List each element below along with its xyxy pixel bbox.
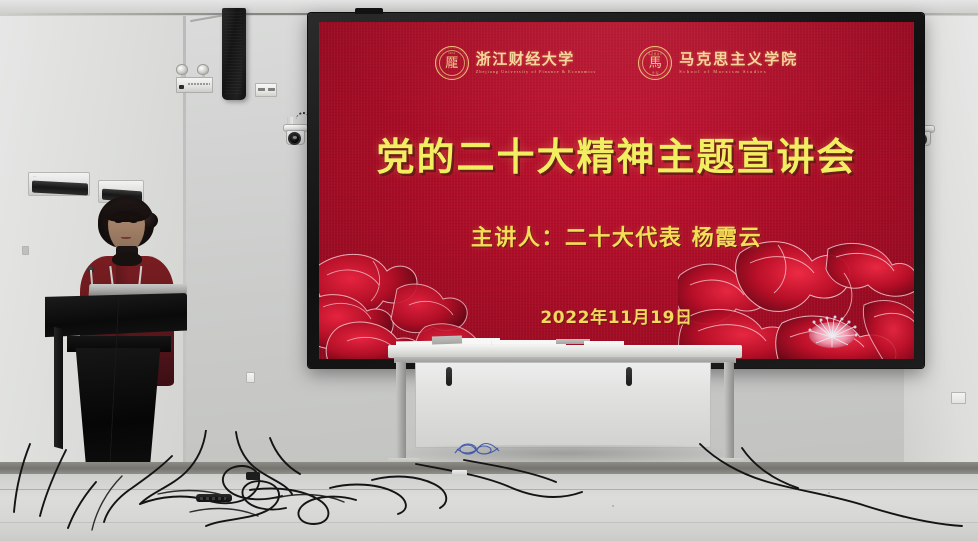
speaker-column xyxy=(222,8,246,100)
desk-latch-right[interactable] xyxy=(626,367,632,386)
logo-zufe-text: 浙江财经大学 Zhejiang University of Finance & … xyxy=(476,52,597,75)
emergency-test-button[interactable] xyxy=(179,85,184,89)
ptz-camera-left xyxy=(283,117,309,147)
logo-marxism: 马克思主义 馬 学 院 马克思主义学院 School of Marxism St… xyxy=(638,46,798,80)
wall-switch-left[interactable] xyxy=(22,246,29,255)
power-outlet-double[interactable] xyxy=(255,83,277,97)
led-display-screen: 1974 龎 浙江财经大学 Zhejiang University of Fin… xyxy=(308,13,924,368)
university-seal-icon: 1974 龎 xyxy=(435,46,469,80)
emergency-lamp-right xyxy=(197,64,209,75)
presenter-fringe xyxy=(103,202,150,222)
photo-scene: — xyxy=(0,0,978,541)
emergency-lamp-left xyxy=(176,64,188,75)
wall-plate-small[interactable] xyxy=(246,372,255,383)
presentation-date: 2022年11月19日 xyxy=(319,303,914,328)
seal-arc-bottom: 学 院 xyxy=(639,71,671,75)
logo-marxism-text: 马克思主义学院 School of Marxism Studies xyxy=(679,52,798,75)
gray-folder xyxy=(432,335,462,344)
presenter-brow-right xyxy=(129,216,137,218)
screen-top-bracket xyxy=(355,8,383,14)
presentation-title: 党的二十大精神主题宣讲会 xyxy=(319,126,914,181)
seal-glyph: 龎 xyxy=(436,47,468,79)
screen-logo-row: 1974 龎 浙江财经大学 Zhejiang University of Fin… xyxy=(319,46,914,80)
floor-outlet-plate[interactable] xyxy=(452,470,467,476)
emergency-light-text xyxy=(188,83,210,85)
cable-connector-box xyxy=(246,472,260,480)
desk-latch-left[interactable] xyxy=(446,367,452,386)
presenter-eye-left xyxy=(115,220,122,223)
logo-marxism-name-cn: 马克思主义学院 xyxy=(679,52,798,68)
wall-plate-right[interactable] xyxy=(951,392,966,404)
logo-zufe-name-en: Zhejiang University of Finance & Economi… xyxy=(476,69,597,74)
presentation-subtitle: 主讲人：二十大代表 杨霞云 xyxy=(319,220,914,252)
wall-lamp-left-label: — xyxy=(33,174,36,178)
presenter-turtleneck-collar xyxy=(112,252,142,266)
logo-zufe: 1974 龎 浙江财经大学 Zhejiang University of Fin… xyxy=(435,46,597,80)
camera-lens-icon xyxy=(288,132,301,145)
school-seal-icon: 马克思主义 馬 学 院 xyxy=(638,46,672,80)
power-strip[interactable] xyxy=(196,494,232,502)
presenter-eye-right xyxy=(130,220,137,223)
presenter-brow-left xyxy=(114,216,122,218)
screen-surface: 1974 龎 浙江财经大学 Zhejiang University of Fin… xyxy=(319,22,914,359)
floor-cables xyxy=(0,430,978,541)
logo-zufe-name-cn: 浙江财经大学 xyxy=(476,52,597,68)
logo-marxism-name-en: School of Marxism Studies xyxy=(679,69,798,74)
